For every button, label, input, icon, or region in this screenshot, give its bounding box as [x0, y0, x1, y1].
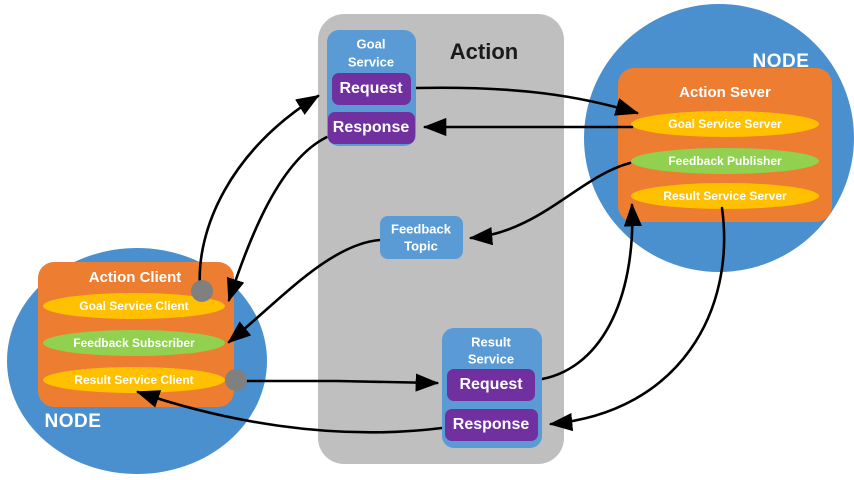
endpoint-label: Result Service Client [74, 373, 193, 387]
result-response-label: Response [453, 416, 530, 433]
goal-service-box[interactable]: Goal Service Request Response [327, 30, 416, 146]
endpoint-result-service-client[interactable]: Result Service Client [43, 367, 225, 393]
goal-client-connector-dot [191, 280, 213, 302]
goal-request-label: Request [339, 80, 403, 97]
client-node[interactable]: NODE Action Client Goal Service Client F… [7, 248, 267, 474]
endpoint-label: Feedback Subscriber [73, 336, 195, 350]
endpoint-feedback-publisher[interactable]: Feedback Publisher [631, 148, 819, 174]
result-service-title-line1: Result [471, 334, 511, 349]
action-client-label: Action Client [89, 269, 182, 286]
result-service-box[interactable]: Result Service Request Response [442, 328, 542, 448]
feedback-topic-title-line2: Topic [404, 238, 438, 253]
goal-service-title-line2: Service [348, 54, 394, 69]
action-architecture-diagram: Action NODE Action Sever Goal Service Se… [0, 0, 854, 480]
endpoint-label: Result Service Server [663, 189, 787, 203]
goal-response-label: Response [333, 119, 410, 136]
arrow-client-goal-to-request [200, 96, 318, 288]
action-group-label: Action [450, 39, 518, 64]
endpoint-result-service-server[interactable]: Result Service Server [631, 183, 819, 209]
feedback-topic-box[interactable]: Feedback Topic [380, 216, 463, 259]
action-server-label: Action Sever [679, 84, 771, 101]
goal-service-title-line1: Goal [357, 36, 386, 51]
endpoint-label: Goal Service Client [79, 299, 188, 313]
endpoint-label: Feedback Publisher [668, 154, 782, 168]
endpoint-label: Goal Service Server [668, 117, 782, 131]
endpoint-feedback-subscriber[interactable]: Feedback Subscriber [43, 330, 225, 356]
diagram-canvas: Action NODE Action Sever Goal Service Se… [0, 0, 854, 480]
client-node-label: NODE [45, 411, 102, 432]
feedback-topic-title-line1: Feedback [391, 221, 452, 236]
endpoint-goal-service-server[interactable]: Goal Service Server [631, 111, 819, 137]
server-node[interactable]: NODE Action Sever Goal Service Server Fe… [584, 4, 854, 272]
result-service-title-line2: Service [468, 351, 514, 366]
result-request-label: Request [459, 376, 523, 393]
result-client-connector-dot [225, 369, 247, 391]
